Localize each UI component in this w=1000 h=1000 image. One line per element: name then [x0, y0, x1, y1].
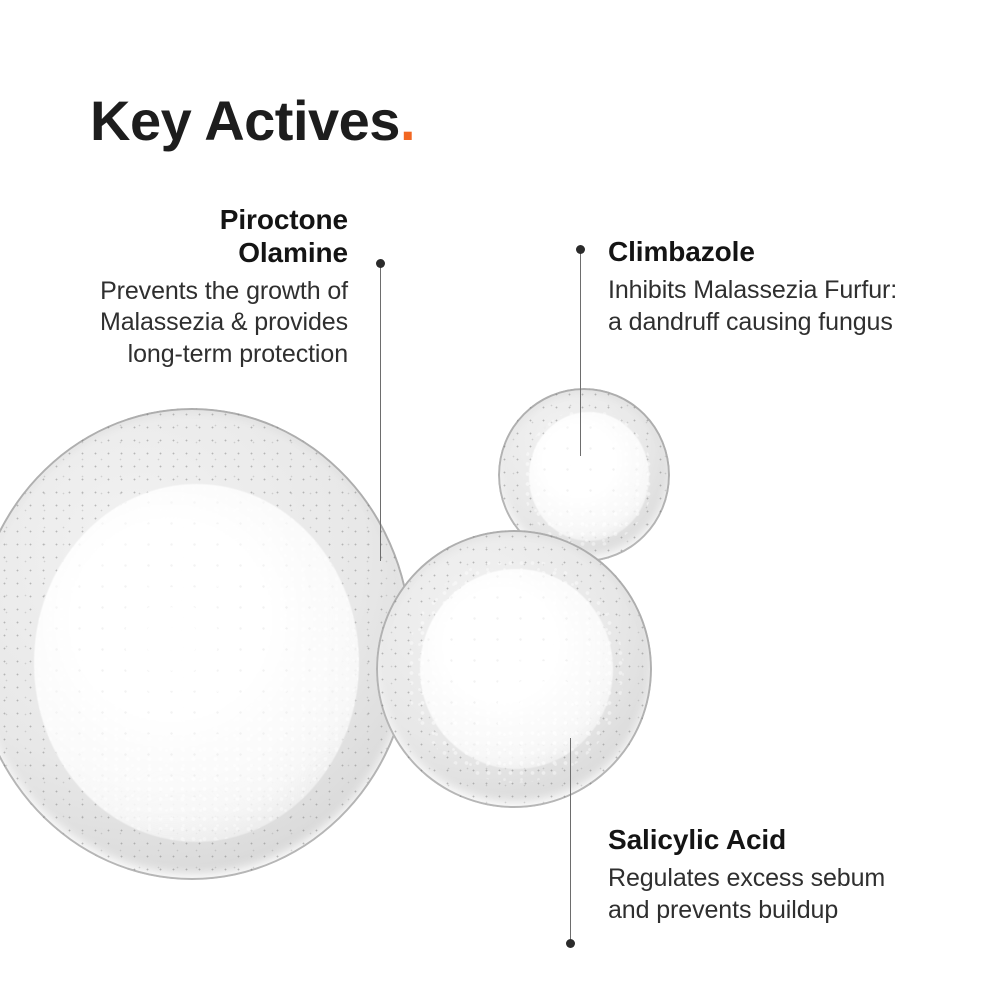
active-name-piroctone-olamine: PiroctoneOlamine: [60, 204, 348, 270]
active-name-climbazole: Climbazole: [608, 236, 908, 269]
page-title: Key Actives.: [90, 92, 415, 151]
powder-grains: [34, 484, 360, 843]
powder-dish-medium: [376, 530, 652, 808]
active-name-line-2: Olamine: [238, 237, 348, 268]
powder-dish-large: [0, 408, 412, 880]
powder-grains: [522, 409, 653, 548]
title-accent-dot: .: [400, 89, 415, 152]
page-title-text: Key Actives: [90, 89, 400, 152]
active-description-salicylic-acid: Regulates excess sebum and prevents buil…: [608, 863, 908, 927]
leader-line-salicylic-acid: [570, 738, 571, 944]
active-callout-climbazole: Climbazole Inhibits Malassezia Furfur: a…: [608, 236, 908, 338]
active-description-climbazole: Inhibits Malassezia Furfur: a dandruff c…: [608, 275, 908, 339]
active-name-salicylic-acid: Salicylic Acid: [608, 824, 908, 857]
leader-node-dot: [566, 939, 575, 948]
key-actives-infographic: Key Actives. PiroctoneOlamine Prevents t…: [0, 0, 1000, 1000]
leader-node-dot: [576, 245, 585, 254]
active-name-line-1: Piroctone: [220, 204, 348, 235]
leader-line-climbazole: [580, 249, 581, 456]
active-callout-salicylic-acid: Salicylic Acid Regulates excess sebum an…: [608, 824, 908, 926]
active-description-piroctone-olamine: Prevents the growth of Malassezia & prov…: [60, 276, 348, 371]
leader-line-piroctone-olamine: [380, 263, 381, 561]
leader-node-dot: [376, 259, 385, 268]
powder-grains: [406, 558, 624, 783]
active-callout-piroctone-olamine: PiroctoneOlamine Prevents the growth of …: [60, 204, 348, 371]
